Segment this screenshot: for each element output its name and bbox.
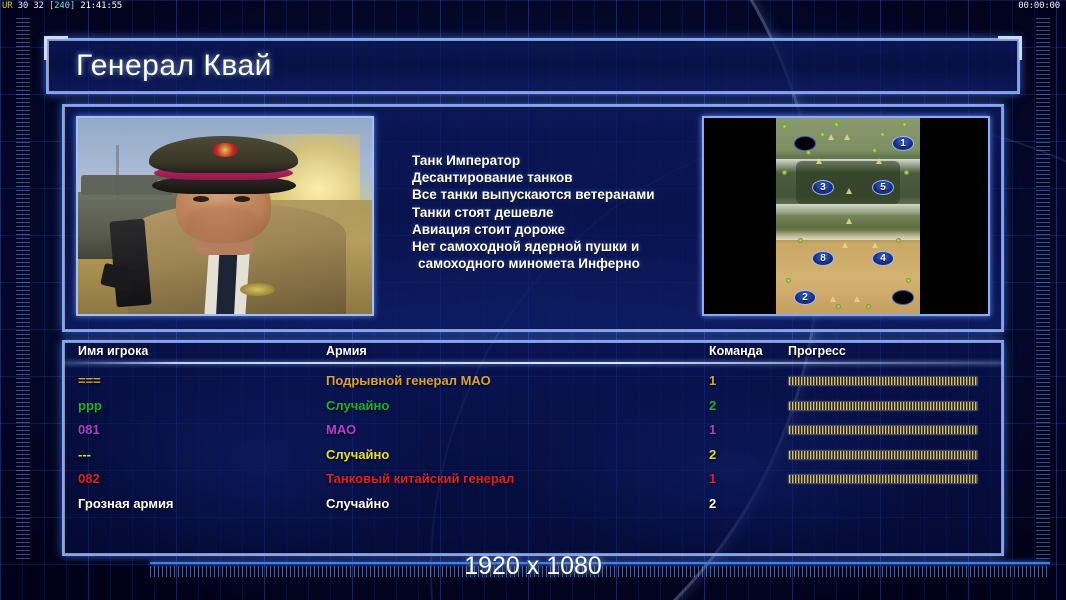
map-tree-marker: [816, 158, 822, 164]
player-team[interactable]: 1: [709, 373, 767, 388]
map-resource-marker: [834, 122, 839, 127]
player-team[interactable]: 1: [709, 422, 767, 437]
column-header-team: Команда: [709, 344, 767, 358]
column-header-progress: Прогресс: [788, 344, 846, 358]
player-row[interactable]: pppСлучайно2: [64, 395, 1002, 419]
player-army[interactable]: Подрывной генерал МАО: [326, 373, 491, 388]
map-resource-marker: [798, 238, 803, 243]
player-progress-bar: [788, 450, 978, 460]
player-team[interactable]: 2: [709, 447, 767, 462]
map-tree-marker: [846, 218, 852, 224]
map-start-position-4[interactable]: 4: [872, 251, 894, 266]
status-timer: 00:00:00: [1018, 0, 1060, 13]
title-panel: Генерал Квай: [46, 38, 1020, 94]
map-tree-marker: [844, 134, 850, 140]
map-start-position-2[interactable]: 2: [794, 290, 816, 305]
map-resource-marker: [902, 122, 907, 127]
map-resource-marker: [786, 278, 791, 283]
player-army[interactable]: Случайно: [326, 447, 389, 462]
corner-bracket-top-right: [998, 36, 1022, 60]
player-progress-fill: [789, 402, 977, 410]
player-progress-fill: [789, 451, 977, 459]
status-value-1: 30: [18, 1, 28, 11]
general-info-panel: Танк Император Десантирование танков Все…: [62, 104, 1004, 332]
player-name: ===: [78, 373, 101, 388]
map-resource-marker: [782, 124, 787, 129]
map-start-position-3[interactable]: 3: [812, 180, 834, 195]
player-progress-bar: [788, 401, 978, 411]
player-team[interactable]: 2: [709, 398, 767, 413]
column-header-name: Имя игрока: [78, 344, 148, 358]
corner-bracket-top-left: [44, 36, 68, 60]
map-tree-marker: [854, 296, 860, 302]
player-progress-fill: [789, 475, 977, 483]
status-bracket: [240]: [49, 1, 75, 11]
ability-line: Все танки выпускаются ветеранами: [412, 186, 712, 203]
player-progress-bar: [788, 474, 978, 484]
map-tree-marker: [842, 242, 848, 248]
resolution-label: 1920 x 1080: [0, 552, 1066, 581]
player-team[interactable]: 1: [709, 471, 767, 486]
map-preview[interactable]: 135842: [702, 116, 990, 316]
player-team[interactable]: 2: [709, 496, 767, 511]
map-tree-marker: [876, 158, 882, 164]
player-row[interactable]: 081МАО1: [64, 419, 1002, 443]
map-tree-marker: [872, 242, 878, 248]
map-resource-marker: [866, 304, 871, 309]
player-progress-bar: [788, 425, 978, 435]
status-value-2: 32: [33, 1, 43, 11]
map-start-position-empty-7[interactable]: [892, 290, 914, 305]
map-image: 135842: [776, 118, 920, 314]
map-resource-marker: [880, 132, 885, 137]
player-progress-bar: [788, 376, 978, 386]
player-name: 082: [78, 471, 100, 486]
players-panel: Имя игрока Армия Команда Прогресс ===Под…: [62, 340, 1004, 556]
page-title: Генерал Квай: [76, 49, 272, 83]
player-name: ppp: [78, 398, 102, 413]
header-divider: [64, 362, 1002, 364]
player-army[interactable]: Случайно: [326, 496, 389, 511]
column-header-army: Армия: [326, 344, 367, 358]
map-start-position-empty-1[interactable]: [794, 136, 816, 151]
player-row[interactable]: 082Танковый китайский генерал1: [64, 468, 1002, 492]
player-progress-fill: [789, 426, 977, 434]
player-progress-fill: [789, 377, 977, 385]
status-bar: UR 30 32 [240] 21:41:55 00:00:00: [0, 0, 1066, 13]
status-left: UR 30 32 [240] 21:41:55: [2, 0, 122, 13]
status-tag: UR: [2, 1, 12, 11]
ability-line: Нет самоходной ядерной пушки и: [412, 238, 712, 255]
map-resource-marker: [906, 278, 911, 283]
player-name: 081: [78, 422, 100, 437]
map-start-position-5[interactable]: 5: [872, 180, 894, 195]
status-clock: 21:41:55: [80, 1, 122, 11]
map-resource-marker: [872, 148, 877, 153]
ability-line: Авиация стоит дороже: [412, 221, 712, 238]
map-resource-marker: [836, 304, 841, 309]
map-tree-marker: [846, 188, 852, 194]
map-resource-marker: [904, 170, 909, 175]
player-army[interactable]: Случайно: [326, 398, 389, 413]
map-start-position-1[interactable]: 1: [892, 136, 914, 151]
ability-line: Танки стоят дешевле: [412, 204, 712, 221]
player-army[interactable]: Танковый китайский генерал: [326, 471, 514, 486]
map-resource-marker: [806, 150, 811, 155]
player-row[interactable]: Грозная армияСлучайно2: [64, 493, 1002, 517]
players-table-header: Имя игрока Армия Команда Прогресс: [64, 342, 1002, 362]
ruler-right: [1036, 18, 1050, 560]
map-resource-marker: [782, 170, 787, 175]
player-army[interactable]: МАО: [326, 422, 356, 437]
ruler-left: [16, 18, 30, 560]
map-tree-marker: [828, 134, 834, 140]
player-row[interactable]: ---Случайно2: [64, 444, 1002, 468]
map-resource-marker: [820, 132, 825, 137]
player-name: Грозная армия: [78, 496, 174, 511]
ability-line: самоходного миномета Инферно: [412, 255, 712, 272]
map-resource-marker: [896, 238, 901, 243]
player-name: ---: [78, 447, 91, 462]
map-start-position-8[interactable]: 8: [812, 251, 834, 266]
game-lobby-screen: UR 30 32 [240] 21:41:55 00:00:00 Генерал…: [0, 0, 1066, 600]
general-abilities-list: Танк Император Десантирование танков Все…: [412, 152, 712, 272]
ability-line: Танк Император: [412, 152, 712, 169]
map-tree-marker: [830, 296, 836, 302]
player-row[interactable]: ===Подрывной генерал МАО1: [64, 370, 1002, 394]
ability-line: Десантирование танков: [412, 169, 712, 186]
general-portrait: [76, 116, 374, 316]
